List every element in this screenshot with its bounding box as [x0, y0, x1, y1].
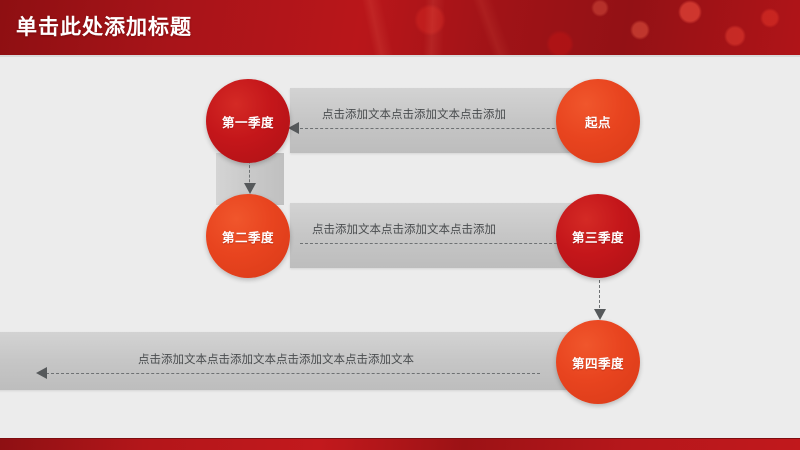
connector-text-row3[interactable]: 点击添加文本点击添加文本点击添加文本点击添加文本	[138, 352, 414, 366]
node-third-quarter[interactable]: 第三季度	[556, 194, 640, 278]
slide-footer-bar	[0, 438, 800, 450]
slide-header: 单击此处添加标题	[0, 0, 800, 55]
node-label: 第一季度	[222, 112, 274, 131]
node-label: 第二季度	[222, 227, 274, 246]
node-start-point[interactable]: 起点	[556, 79, 640, 163]
node-first-quarter[interactable]: 第一季度	[206, 79, 290, 163]
connector-text-row1[interactable]: 点击添加文本点击添加文本点击添加	[322, 107, 506, 121]
process-diagram: 点击添加文本点击添加文本点击添加 点击添加文本点击添加文本点击添加 点击添加文本…	[0, 57, 800, 439]
arrow-left-icon	[36, 367, 47, 379]
connector-text-row2[interactable]: 点击添加文本点击添加文本点击添加	[312, 222, 496, 236]
arrow-down-icon	[244, 183, 256, 194]
connector-line-row2	[300, 243, 572, 244]
node-fourth-quarter[interactable]: 第四季度	[556, 320, 640, 404]
node-label: 起点	[585, 112, 611, 131]
connector-line-row1	[300, 128, 580, 129]
slide-canvas: 单击此处添加标题 点击添加文本点击添加文本点击添加 点击添加文本点击添加文本点击…	[0, 0, 800, 450]
node-label: 第四季度	[572, 353, 624, 372]
page-title: 单击此处添加标题	[16, 13, 192, 41]
node-label: 第三季度	[572, 227, 624, 246]
node-second-quarter[interactable]: 第二季度	[206, 194, 290, 278]
connector-line-row3	[46, 373, 540, 374]
arrow-down-icon	[594, 309, 606, 320]
